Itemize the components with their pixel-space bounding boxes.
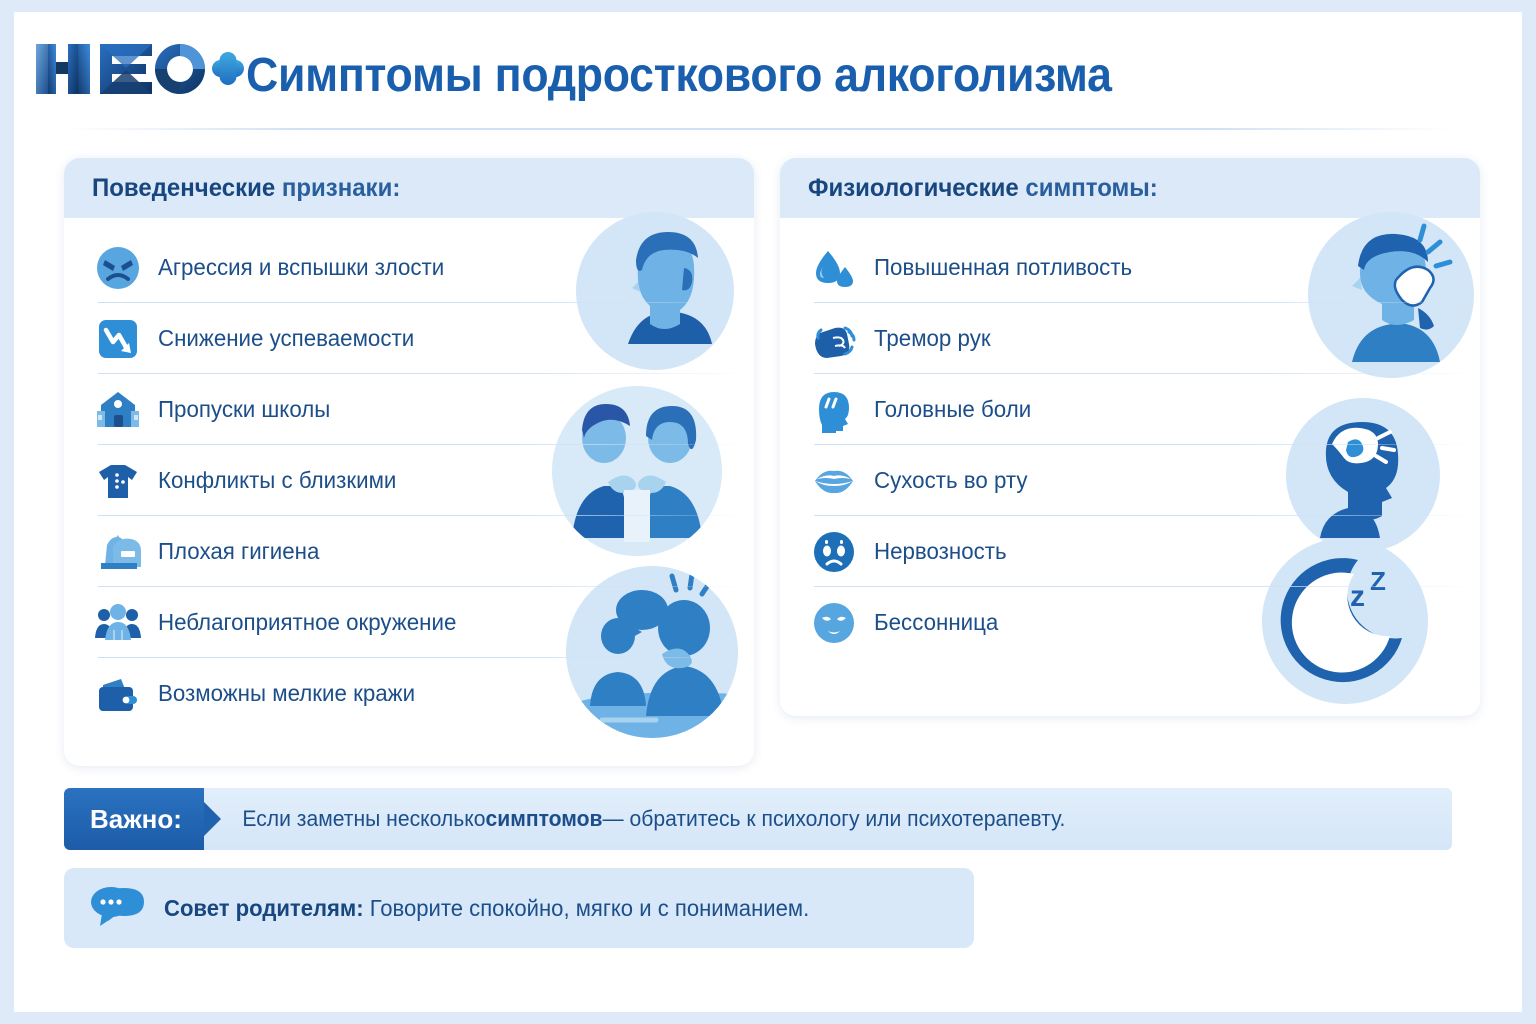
header-divider — [62, 128, 1452, 130]
behavioral-card-header: Поведенческие признаки: — [64, 158, 754, 218]
behavioral-header-light: признаки: — [275, 174, 400, 202]
physiological-symptoms-card: Физиологические симптомы: — [780, 158, 1480, 716]
list-item-label: Возможны мелкие кражи — [158, 680, 415, 707]
tshirt-icon — [94, 457, 142, 505]
behavioral-card-body: Агрессия и вспышки злости Снижение успев… — [64, 218, 754, 766]
list-item-label: Нервозность — [874, 538, 1007, 565]
infographic-page: Симптомы подросткового алкоголизма Повед… — [14, 12, 1522, 1012]
behavioral-items-list: Агрессия и вспышки злости Снижение успев… — [64, 232, 754, 729]
advice-text-normal: Говорите спокойно, мягко и с пониманием. — [364, 895, 810, 921]
school-building-icon — [94, 386, 142, 434]
advice-text-bold: Совет родителям: — [164, 895, 364, 921]
angry-face-icon — [94, 244, 142, 292]
list-item[interactable]: Неблагоприятное окружение — [64, 587, 754, 658]
important-text-bold: симптомов — [485, 806, 602, 832]
group-people-icon — [94, 599, 142, 647]
list-item[interactable]: Снижение успеваемости — [64, 303, 754, 374]
physiological-header-light: симптомы: — [1019, 174, 1158, 202]
list-item-label: Тремор рук — [874, 325, 991, 352]
physiological-card-header-text: Физиологические симптомы: — [808, 174, 1158, 203]
list-item-label: Конфликты с близкими — [158, 467, 396, 494]
physiological-card-header: Физиологические симптомы: — [780, 158, 1480, 218]
wallet-icon — [94, 670, 142, 718]
neo-plus-logo — [30, 38, 244, 100]
list-item[interactable]: Конфликты с близкими — [64, 445, 754, 516]
advice-banner-text: Совет родителям: Говорите спокойно, мягк… — [164, 895, 809, 922]
important-banner-text: Если заметны несколько симптомов — обрат… — [204, 788, 1065, 850]
important-text-before: Если заметны несколько — [242, 806, 485, 832]
physiological-items-list: Повышенная потливость — [780, 232, 1480, 658]
list-item-label: Повышенная потливость — [874, 254, 1132, 281]
list-item[interactable]: Головные боли — [780, 374, 1480, 445]
physiological-card-body: z Z Повышенная потливость — [780, 218, 1480, 716]
page-header: Симптомы подросткового алкоголизма — [14, 12, 1522, 127]
list-item-label: Агрессия и вспышки злости — [158, 254, 444, 281]
behavioral-header-bold: Поведенческие — [92, 174, 275, 202]
declining-chart-icon — [94, 315, 142, 363]
sleepless-face-icon — [810, 599, 858, 647]
list-item[interactable]: Агрессия и вспышки злости — [64, 232, 754, 303]
head-pain-icon — [810, 386, 858, 434]
important-text-after: — обратитесь к психологу или психотерапе… — [602, 806, 1065, 832]
list-item[interactable]: Бессонница — [780, 587, 1480, 658]
behavioral-card-header-text: Поведенческие признаки: — [92, 174, 400, 203]
list-item-label: Головные боли — [874, 396, 1031, 423]
important-banner: Важно: Если заметны несколько симптомов … — [64, 788, 1452, 850]
important-tag: Важно: — [64, 788, 204, 850]
list-item-label: Снижение успеваемости — [158, 325, 414, 352]
trembling-hand-icon — [810, 315, 858, 363]
worried-face-icon — [810, 528, 858, 576]
list-item[interactable]: Пропуски школы — [64, 374, 754, 445]
water-drops-icon — [810, 244, 858, 292]
lips-icon — [810, 457, 858, 505]
list-item[interactable]: Сухость во рту — [780, 445, 1480, 516]
behavioral-signs-card: Поведенческие признаки: — [64, 158, 754, 766]
list-item-label: Сухость во рту — [874, 467, 1028, 494]
trash-bag-icon — [94, 528, 142, 576]
list-item[interactable]: Тремор рук — [780, 303, 1480, 374]
advice-banner: Совет родителям: Говорите спокойно, мягк… — [64, 868, 974, 948]
list-item-label: Бессонница — [874, 609, 998, 636]
physiological-header-bold: Физиологические — [808, 174, 1019, 202]
list-item-label: Неблагоприятное окружение — [158, 609, 456, 636]
page-title: Симптомы подросткового алкоголизма — [246, 48, 1112, 103]
list-item-label: Пропуски школы — [158, 396, 330, 423]
list-item[interactable]: Нервозность — [780, 516, 1480, 587]
list-item[interactable]: Повышенная потливость — [780, 232, 1480, 303]
list-item[interactable]: Возможны мелкие кражи — [64, 658, 754, 729]
list-item-label: Плохая гигиена — [158, 538, 319, 565]
chat-bubbles-icon — [90, 882, 146, 935]
list-item[interactable]: Плохая гигиена — [64, 516, 754, 587]
